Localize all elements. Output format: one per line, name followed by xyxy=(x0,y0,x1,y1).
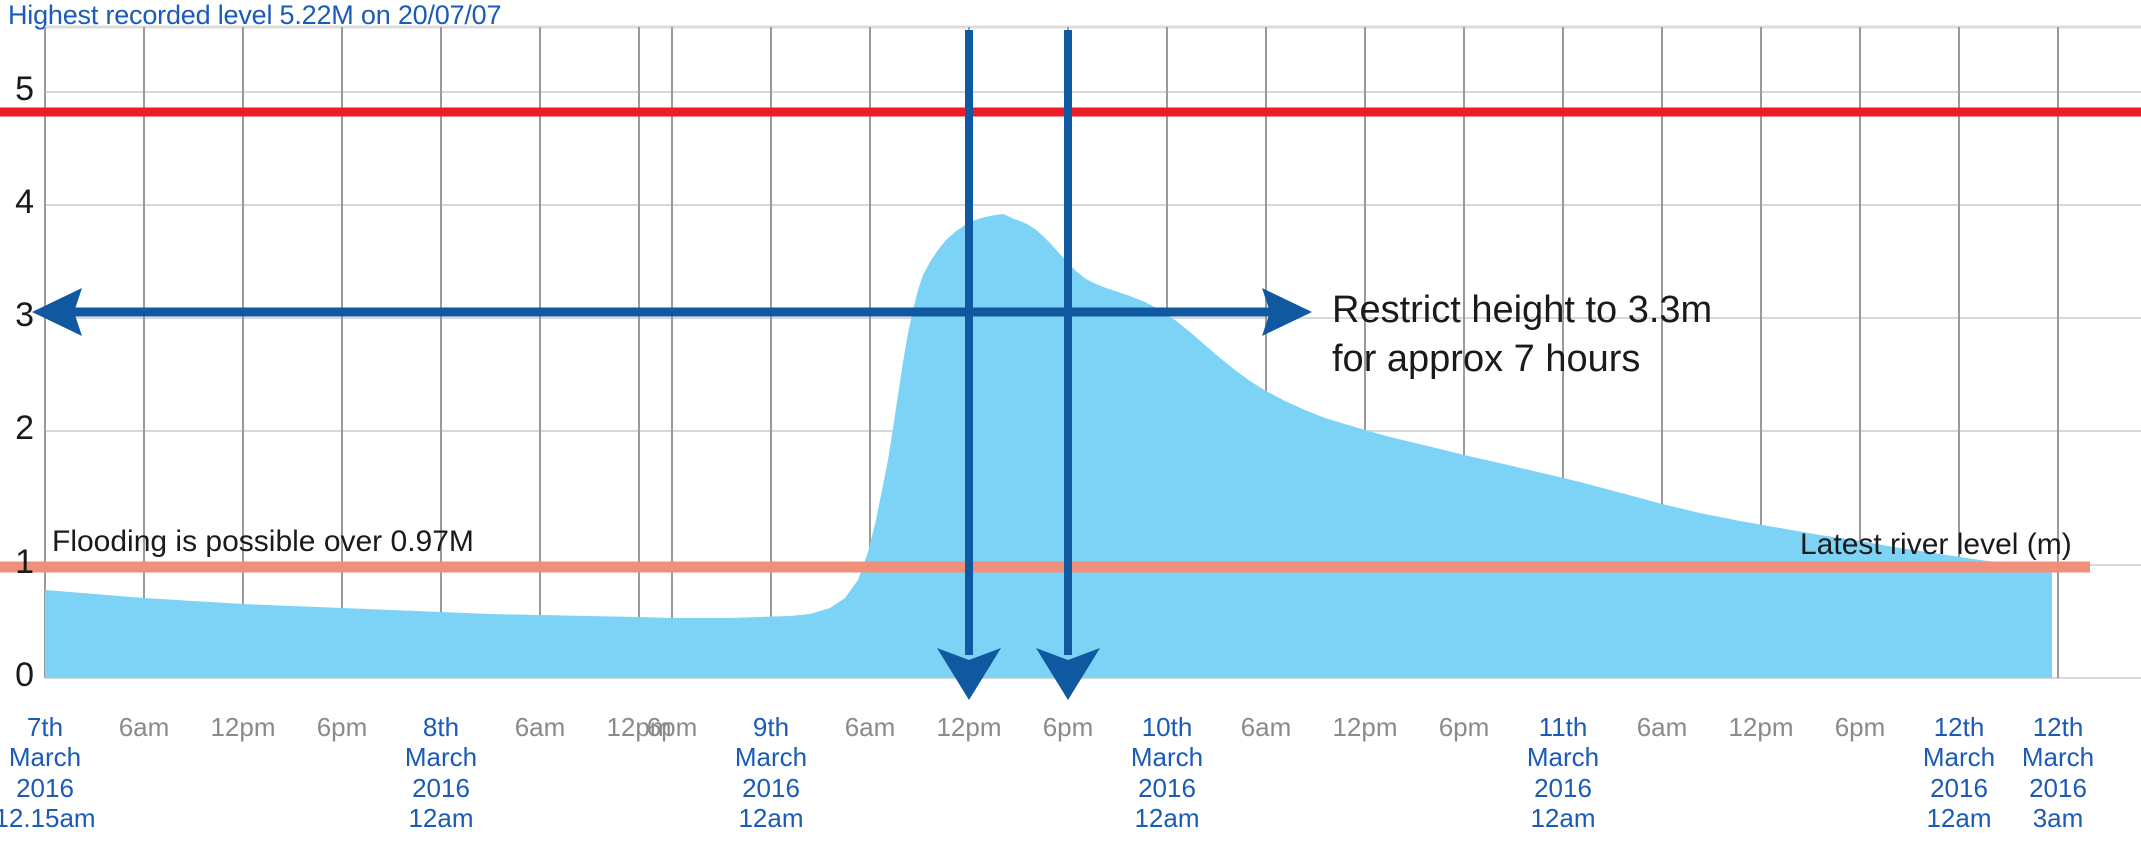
xtick-15-line1: 6pm xyxy=(1439,712,1490,742)
xtick-20-line2: March xyxy=(1923,742,1995,772)
xtick-19-line1: 6pm xyxy=(1835,712,1886,742)
xtick-8-line1: 9th xyxy=(735,712,807,742)
xtick-15-time: 6pm xyxy=(1439,712,1490,742)
xtick-10-line1: 12pm xyxy=(936,712,1001,742)
xtick-9-line1: 6am xyxy=(845,712,896,742)
xtick-4-date: 8thMarch201612am xyxy=(405,712,477,834)
xtick-21-line1: 12th xyxy=(2022,712,2094,742)
latest-river-level-label: Latest river level (m) xyxy=(1800,528,2072,562)
xtick-3-time: 6pm xyxy=(317,712,368,742)
xtick-16-line2: March xyxy=(1527,742,1599,772)
xtick-4-line1: 8th xyxy=(405,712,477,742)
ytick-label-4: 4 xyxy=(0,185,34,219)
xtick-21-date: 12thMarch20163am xyxy=(2022,712,2094,834)
xtick-11-line1: 6pm xyxy=(1043,712,1094,742)
xtick-2-time: 12pm xyxy=(210,712,275,742)
ytick-label-1: 1 xyxy=(0,545,34,579)
xtick-5-time: 6am xyxy=(515,712,566,742)
xtick-21-line4: 3am xyxy=(2022,803,2094,833)
restrict-height-line1: Restrict height to 3.3m xyxy=(1332,286,1712,335)
xtick-12-date: 10thMarch201612am xyxy=(1131,712,1203,834)
xtick-0-line4: 12.15am xyxy=(0,803,96,833)
xtick-7-line1: 6pm xyxy=(647,712,698,742)
xtick-14-line1: 12pm xyxy=(1332,712,1397,742)
xtick-4-line4: 12am xyxy=(405,803,477,833)
xtick-21-line3: 2016 xyxy=(2022,773,2094,803)
xtick-8-line2: March xyxy=(735,742,807,772)
xtick-9-time: 6am xyxy=(845,712,896,742)
xtick-13-line1: 6am xyxy=(1241,712,1292,742)
xtick-0-line1: 7th xyxy=(0,712,96,742)
xtick-20-line1: 12th xyxy=(1923,712,1995,742)
ytick-label-5: 5 xyxy=(0,72,34,106)
xtick-18-line1: 12pm xyxy=(1728,712,1793,742)
xtick-12-line4: 12am xyxy=(1131,803,1203,833)
xtick-11-time: 6pm xyxy=(1043,712,1094,742)
xtick-17-time: 6am xyxy=(1637,712,1688,742)
xtick-8-line3: 2016 xyxy=(735,773,807,803)
xtick-1-line1: 6am xyxy=(119,712,170,742)
xtick-10-time: 12pm xyxy=(936,712,1001,742)
xtick-4-line3: 2016 xyxy=(405,773,477,803)
xtick-2-line1: 12pm xyxy=(210,712,275,742)
xtick-1-time: 6am xyxy=(119,712,170,742)
ytick-label-0: 0 xyxy=(0,658,34,692)
xtick-16-line4: 12am xyxy=(1527,803,1599,833)
xtick-20-line4: 12am xyxy=(1923,803,1995,833)
river-level-area xyxy=(45,214,2052,678)
xtick-0-line2: March xyxy=(0,742,96,772)
xtick-16-line1: 11th xyxy=(1527,712,1599,742)
xtick-7-time: 6pm xyxy=(647,712,698,742)
xtick-0-line3: 2016 xyxy=(0,773,96,803)
restrict-height-line2: for approx 7 hours xyxy=(1332,335,1712,384)
xtick-12-line2: March xyxy=(1131,742,1203,772)
xtick-3-line1: 6pm xyxy=(317,712,368,742)
xtick-0-date: 7thMarch201612.15am xyxy=(0,712,96,834)
xtick-12-line1: 10th xyxy=(1131,712,1203,742)
xtick-14-time: 12pm xyxy=(1332,712,1397,742)
xtick-5-line1: 6am xyxy=(515,712,566,742)
xtick-19-time: 6pm xyxy=(1835,712,1886,742)
xtick-16-line3: 2016 xyxy=(1527,773,1599,803)
ytick-label-2: 2 xyxy=(0,411,34,445)
xtick-18-time: 12pm xyxy=(1728,712,1793,742)
restrict-height-annotation: Restrict height to 3.3m for approx 7 hou… xyxy=(1332,286,1712,383)
xtick-21-line2: March xyxy=(2022,742,2094,772)
xtick-12-line3: 2016 xyxy=(1131,773,1203,803)
xtick-13-time: 6am xyxy=(1241,712,1292,742)
xtick-8-line4: 12am xyxy=(735,803,807,833)
river-level-chart: Highest recorded level 5.22M on 20/07/07 xyxy=(0,0,2141,856)
xtick-4-line2: March xyxy=(405,742,477,772)
xtick-20-date: 12thMarch201612am xyxy=(1923,712,1995,834)
xtick-20-line3: 2016 xyxy=(1923,773,1995,803)
xtick-17-line1: 6am xyxy=(1637,712,1688,742)
xtick-8-date: 9thMarch201612am xyxy=(735,712,807,834)
xtick-16-date: 11thMarch201612am xyxy=(1527,712,1599,834)
flooding-threshold-label: Flooding is possible over 0.97M xyxy=(52,525,474,559)
ytick-label-3: 3 xyxy=(0,298,34,332)
